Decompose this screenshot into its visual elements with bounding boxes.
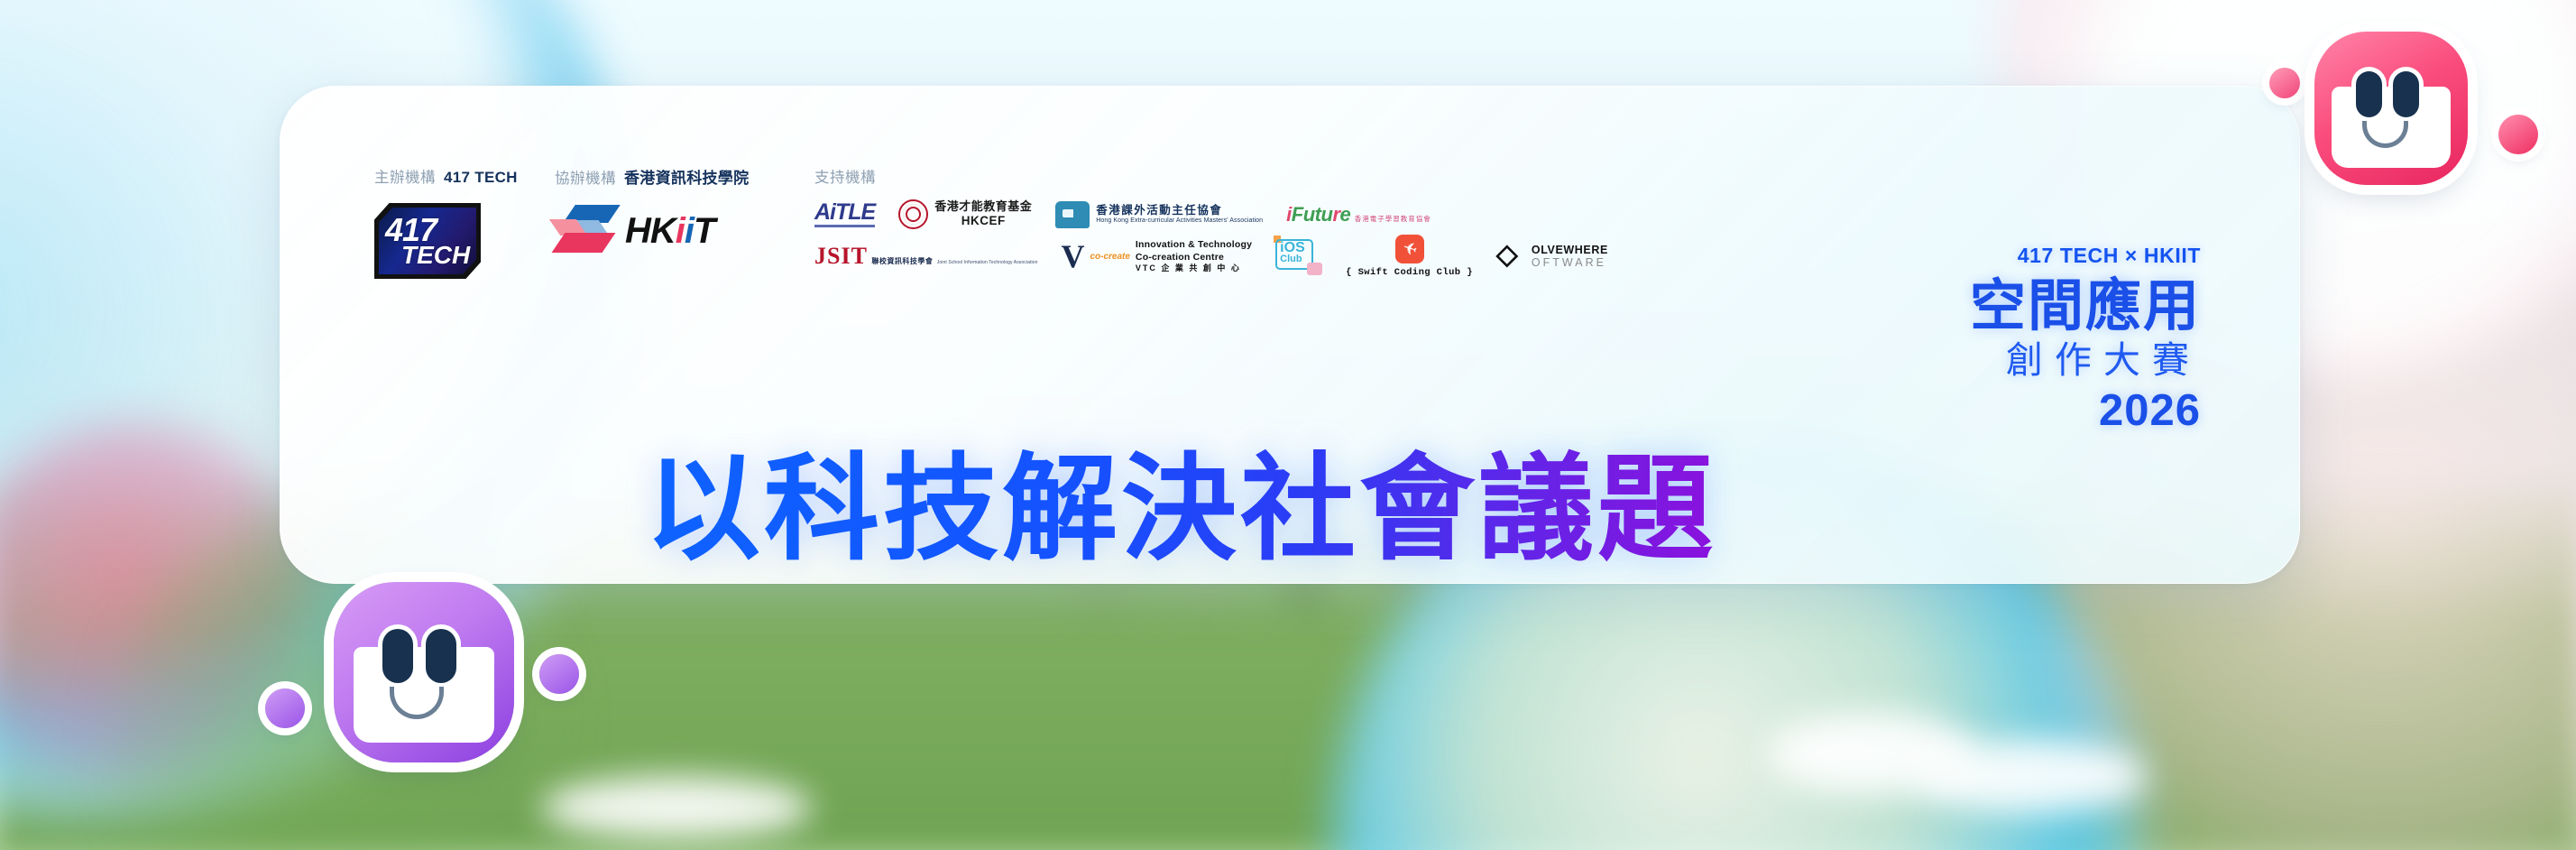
purple-mascot-ball-left <box>265 688 305 728</box>
cloud-2 <box>1912 740 2147 812</box>
hkcef-seal-icon <box>898 199 928 229</box>
jsit-en: Joint School Information Technology Asso… <box>937 260 1038 265</box>
hkecama-mark-icon <box>1055 201 1090 228</box>
hkcef-cn: 香港才能教育基金 <box>934 199 1032 213</box>
supporters-heading: 支持機構 <box>814 165 1741 185</box>
vtc-v-mark: V <box>1061 242 1084 271</box>
supporter-vtc: V co-create Innovation & Technology Co-c… <box>1061 239 1252 273</box>
competition-title-block: 417 TECH × HKIIT 空間應用 創作大賽 2026 <box>1903 244 2201 436</box>
supporters-label: 支持機構 <box>814 165 876 187</box>
pink-mascot-ball-right <box>2498 115 2538 154</box>
competition-year: 2026 <box>1903 385 2201 436</box>
swift-bird-icon <box>1395 235 1424 263</box>
ifuture-logo: iFuture 香港電子學習教育協會 <box>1286 205 1431 225</box>
purple-mascot-body <box>334 582 514 762</box>
hkcef-en: HKCEF <box>934 214 1032 229</box>
supporter-hkecama: 香港課外活動主任協會 Hong Kong Extra-curricular Ac… <box>1055 201 1263 228</box>
solvewhere-line2: OFTWARE <box>1532 256 1608 269</box>
competition-title-line1: 空間應用 <box>1903 274 2201 337</box>
supporter-ios-club: iOSClub <box>1275 237 1322 275</box>
hero-card: 主辦機構 417 TECH 417 TECH 協辦機構 香港資訊科技學院 <box>280 86 2300 584</box>
supporter-aitle: AiTLE <box>814 201 875 227</box>
hkecama-text: 香港課外活動主任協會 Hong Kong Extra-curricular Ac… <box>1096 204 1263 225</box>
supporter-hkcef: 香港才能教育基金 HKCEF <box>898 199 1032 229</box>
vtc-en1: Innovation & Technology <box>1136 239 1252 251</box>
purple-mascot-eye-right <box>426 629 456 683</box>
solvewhere-mark-icon: ◇ <box>1496 241 1527 272</box>
supporters-grid: AiTLE 香港才能教育基金 HKCEF 香港課外活動主任協會 H <box>814 199 1741 278</box>
hero-headline: 以科技解決社會議題 <box>645 415 1716 582</box>
pink-mascot <box>2314 32 2468 185</box>
417tech-logo: 417 TECH <box>374 203 481 279</box>
hkcef-text: 香港才能教育基金 HKCEF <box>934 199 1032 229</box>
partner-group-coorganiser: 協辦機構 香港資訊科技學院 HKiiT <box>555 165 814 259</box>
aitle-wordmark: AiTLE <box>814 201 875 227</box>
coorganiser-heading: 協辦機構 香港資訊科技學院 <box>555 165 814 185</box>
solvewhere-line1: OLVEWHERE <box>1532 244 1608 256</box>
swift-coding-club-label: { Swift Coding Club } <box>1346 267 1473 278</box>
jsit-cn: 聯校資訊科技學會 <box>871 257 933 265</box>
solvewhere-text: OLVEWHERE OFTWARE <box>1532 244 1608 270</box>
supporters-row-2: JSIT 聯校資訊科技學會 Joint School Information T… <box>814 235 1741 278</box>
purple-mascot-eye-left <box>382 629 413 683</box>
purple-mascot <box>334 582 514 762</box>
supporter-jsit: JSIT 聯校資訊科技學會 Joint School Information T… <box>814 244 1037 268</box>
coorganiser-logos: HKiiT <box>555 203 814 259</box>
jsit-logo: JSIT 聯校資訊科技學會 Joint School Information T… <box>814 244 1037 268</box>
supporters-row-1: AiTLE 香港才能教育基金 HKCEF 香港課外活動主任協會 H <box>814 199 1741 229</box>
vtc-en2: Co-creation Centre <box>1136 252 1252 263</box>
hkiit-logo: HKiiT <box>555 203 714 259</box>
pink-mascot-eye-left <box>2356 71 2382 117</box>
purple-mascot-ball-right <box>539 654 579 694</box>
hkiit-wordmark: HKiiT <box>625 211 714 252</box>
ifuture-wordmark: iFuture <box>1286 203 1350 226</box>
vtc-text: Innovation & Technology Co-creation Cent… <box>1136 239 1252 273</box>
pink-mascot-body <box>2314 32 2468 185</box>
coorganiser-value: 香港資訊科技學院 <box>624 165 749 188</box>
competition-kicker: 417 TECH × HKIIT <box>1903 244 2201 268</box>
supporter-ifuture: iFuture 香港電子學習教育協會 <box>1286 205 1431 225</box>
pink-mascot-ball-left <box>2269 68 2300 98</box>
vtc-cocreate-mark: co-create <box>1090 252 1129 262</box>
host-value: 417 TECH <box>444 169 518 187</box>
supporter-solvewhere: ◇ OLVEWHERE OFTWARE <box>1496 241 1608 272</box>
ios-club-wordmark: iOSClub <box>1280 241 1305 264</box>
cloud-3 <box>541 776 812 839</box>
ifuture-cn: 香港電子學習教育協會 <box>1355 215 1431 223</box>
competition-title-line2: 創作大賽 <box>1903 338 2201 383</box>
pink-mascot-eye-right <box>2393 71 2419 117</box>
jsit-wordmark: JSIT <box>814 243 868 269</box>
partners-row: 主辦機構 417 TECH 417 TECH 協辦機構 香港資訊科技學院 <box>374 165 1741 279</box>
hkiit-ribbon-icon <box>555 203 614 259</box>
partner-group-supporters: 支持機構 AiTLE 香港才能教育基金 HKCEF <box>814 165 1741 278</box>
ios-club-logo: iOSClub <box>1275 237 1322 275</box>
hkecama-en: Hong Kong Extra-curricular Activities Ma… <box>1096 217 1263 225</box>
partner-group-host: 主辦機構 417 TECH 417 TECH <box>374 165 555 279</box>
417tech-logo-bottom: TECH <box>401 243 470 268</box>
coorganiser-label: 協辦機構 <box>555 166 616 188</box>
supporter-swift-coding-club: { Swift Coding Club } <box>1346 235 1473 278</box>
host-label: 主辦機構 <box>374 165 436 187</box>
hkecama-cn: 香港課外活動主任協會 <box>1096 204 1263 217</box>
host-heading: 主辦機構 417 TECH <box>374 165 555 185</box>
host-logos: 417 TECH <box>374 203 555 279</box>
vtc-cn: VTC 企 業 共 創 中 心 <box>1136 263 1252 273</box>
